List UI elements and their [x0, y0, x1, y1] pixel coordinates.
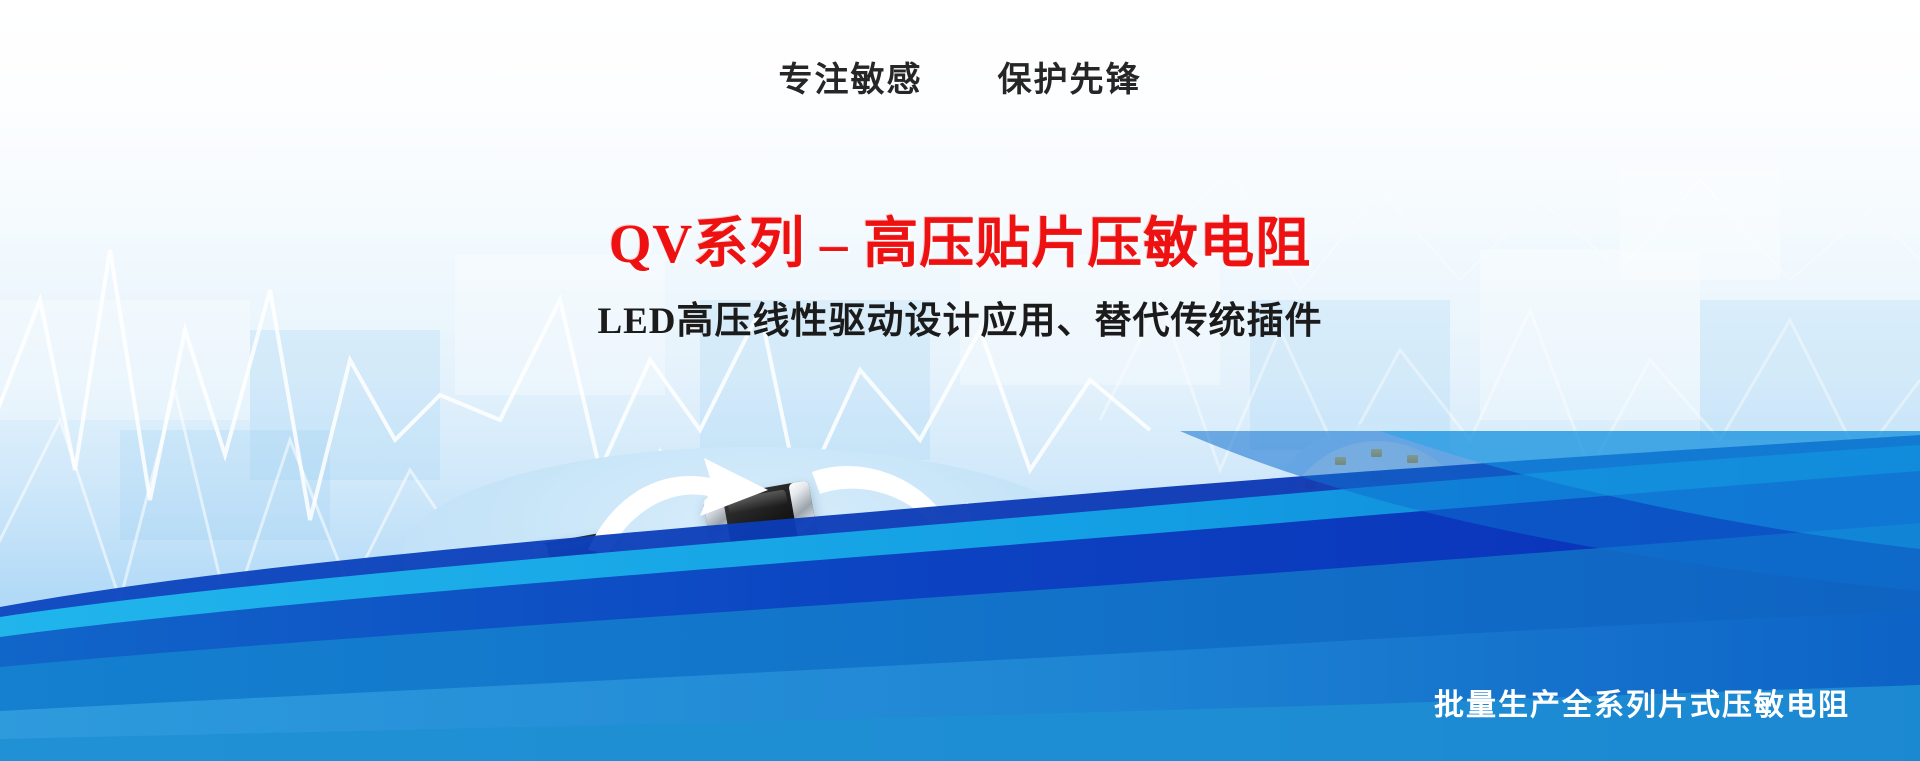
tagline-part-1: 专注敏感 [779, 62, 923, 99]
tagline-part-2: 保护先锋 [998, 62, 1142, 99]
page-subtitle: LED高压线性驱动设计应用、替代传统插件 [0, 290, 1920, 344]
product-banner: 专注敏感 保护先锋 QV系列 – 高压贴片压敏电阻 LED高压线性驱动设计应用、… [0, 0, 1920, 761]
footer-caption: 批量生产全系列片式压敏电阻 [1434, 680, 1850, 724]
brand-tagline: 专注敏感 保护先锋 [0, 52, 1920, 101]
page-title: QV系列 – 高压贴片压敏电阻 [0, 198, 1920, 278]
